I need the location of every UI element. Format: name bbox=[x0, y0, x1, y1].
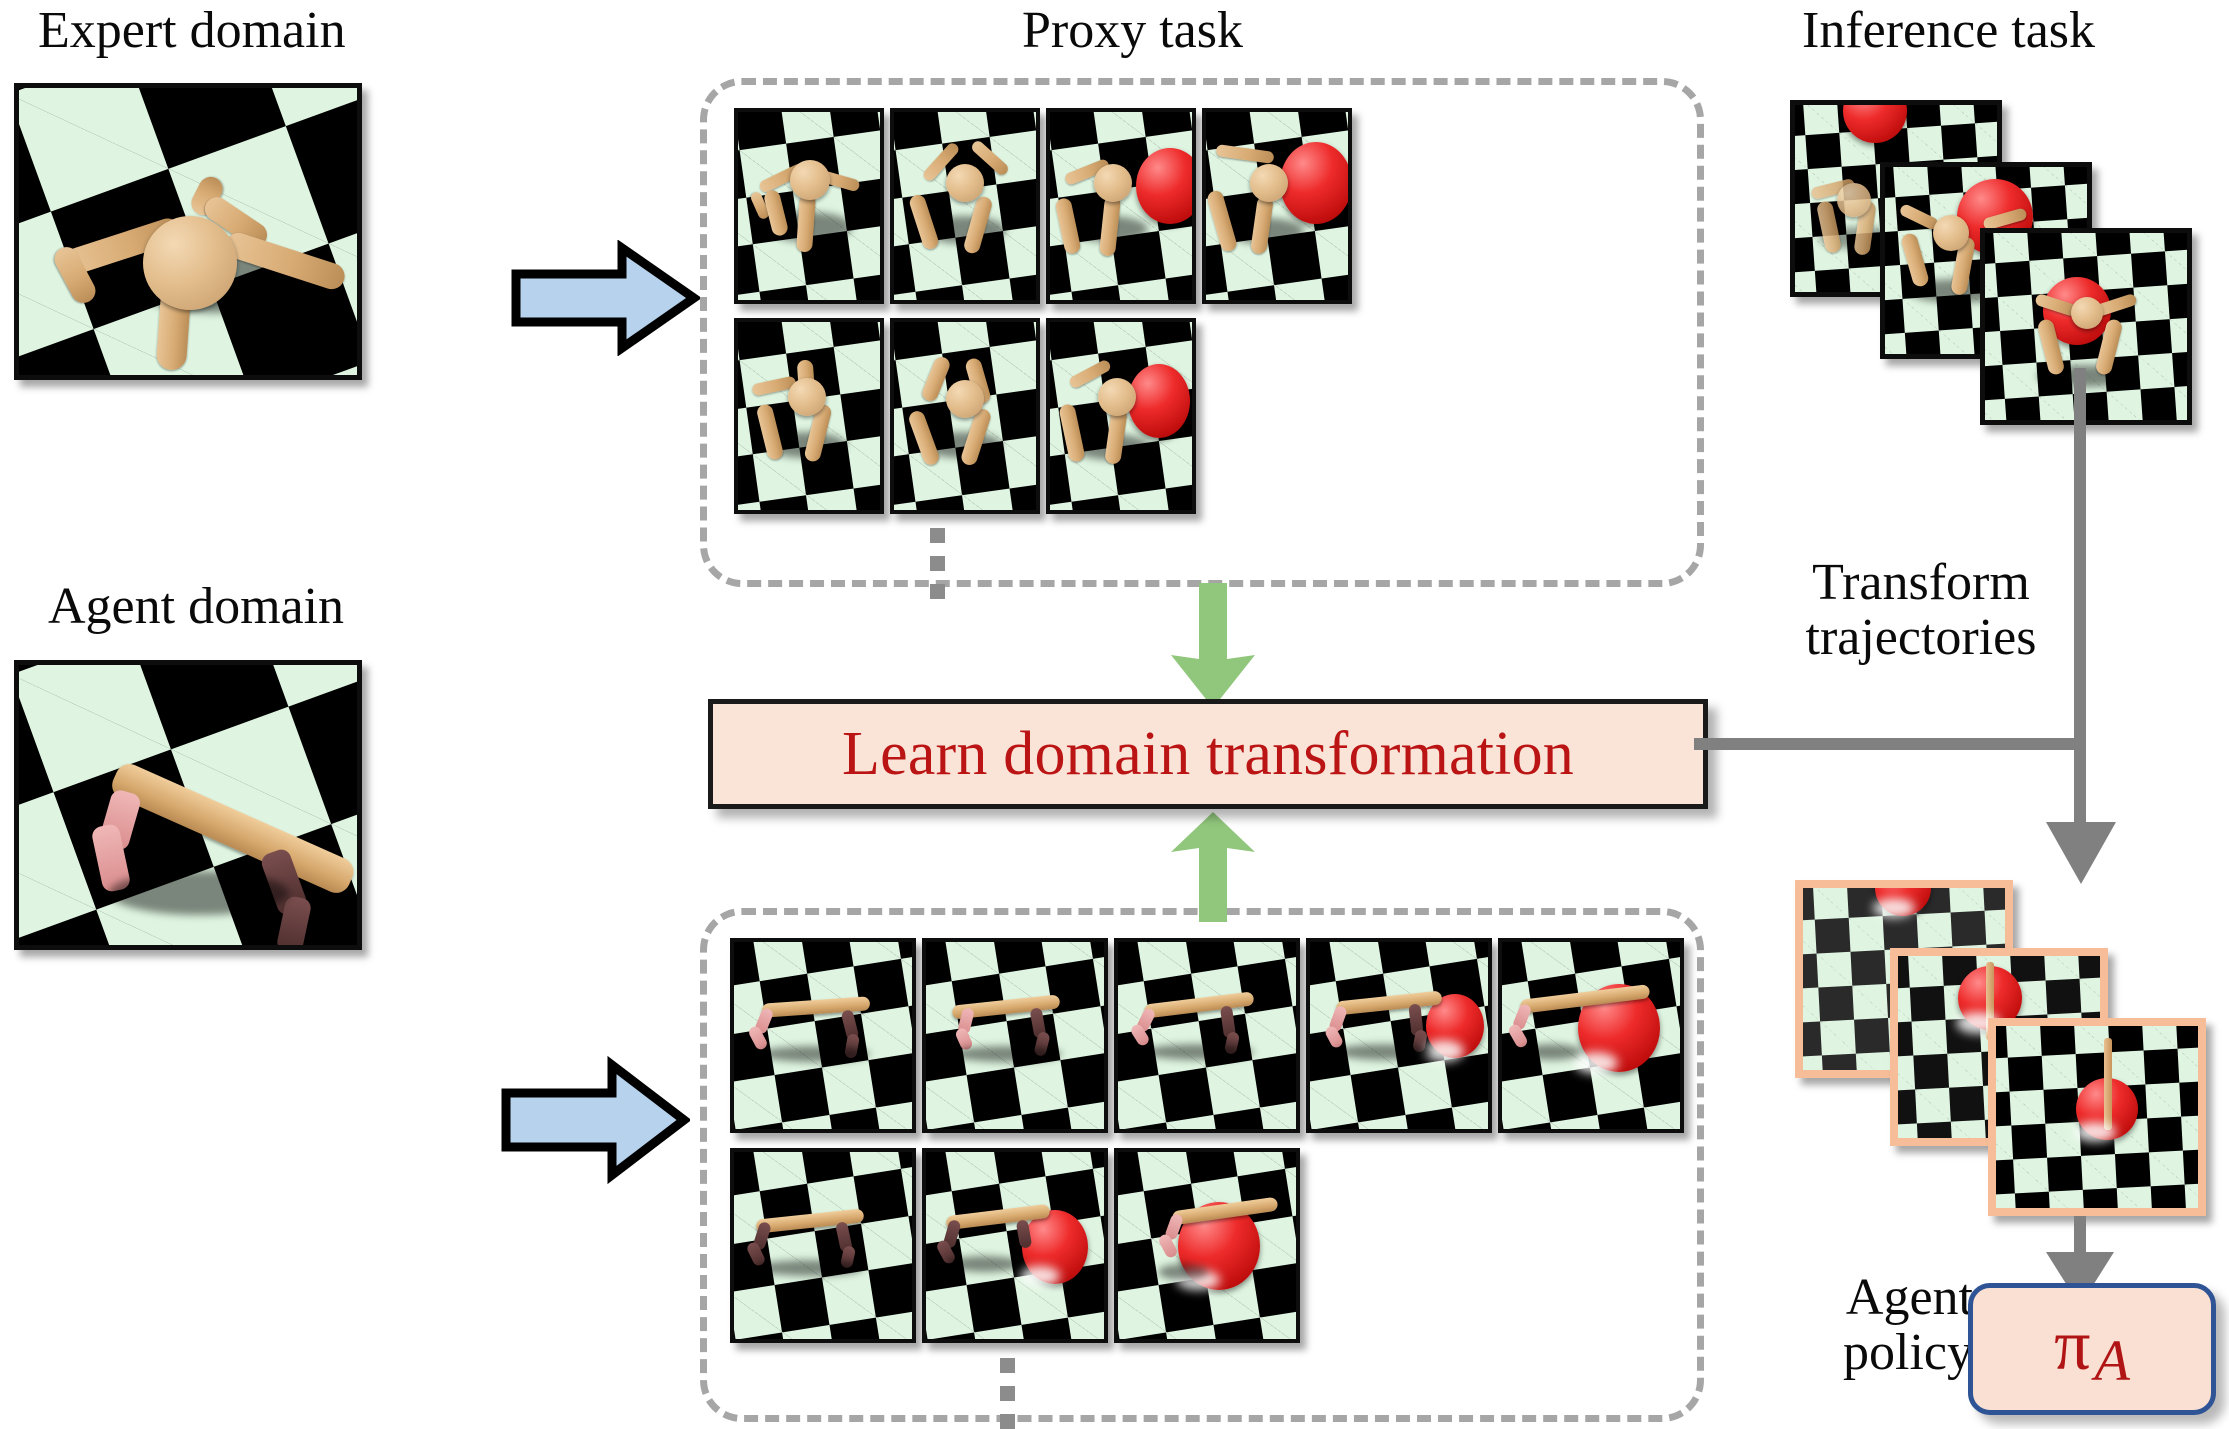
transformed-frame-3 bbox=[1988, 1018, 2206, 1216]
heading-agent-domain: Agent domain bbox=[48, 580, 344, 635]
agent-domain-scene bbox=[19, 665, 357, 945]
agent-policy-label: Agent policy bbox=[1745, 1270, 1973, 1380]
blue-arrow-agent-to-proxy bbox=[500, 1055, 690, 1185]
heading-expert-domain: Expert domain bbox=[38, 4, 346, 59]
proxy-agent-frame bbox=[730, 938, 916, 1133]
transform-trajectories-line1: Transform bbox=[1780, 555, 2062, 610]
heading-inference-task: Inference task bbox=[1802, 4, 2095, 59]
gray-vertical-line-inference bbox=[2074, 368, 2086, 772]
proxy-expert-frame bbox=[734, 108, 884, 304]
blue-arrow-expert-to-proxy bbox=[510, 240, 700, 356]
learn-domain-transformation-label: Learn domain transformation bbox=[842, 719, 1574, 790]
proxy-agent-frame bbox=[922, 1148, 1108, 1343]
proxy-expert-frame bbox=[734, 318, 884, 514]
proxy-agent-ellipsis bbox=[1000, 1358, 1015, 1429]
transform-trajectories-line2: trajectories bbox=[1780, 610, 2062, 665]
proxy-agent-frame bbox=[1498, 938, 1684, 1133]
agent-policy-box[interactable]: πA bbox=[1968, 1283, 2216, 1415]
gray-arrow-down-to-transformed-stack bbox=[2040, 818, 2122, 888]
transform-trajectories-label: Transform trajectories bbox=[1780, 555, 2062, 665]
proxy-agent-frame bbox=[1114, 1148, 1300, 1343]
agent-policy-line2: policy bbox=[1745, 1325, 1973, 1380]
inference-frame-3 bbox=[1980, 228, 2192, 425]
agent-policy-line1: Agent bbox=[1745, 1270, 1973, 1325]
proxy-agent-frame bbox=[1114, 938, 1300, 1133]
expert-domain-frame bbox=[14, 83, 362, 380]
proxy-expert-frame bbox=[1202, 108, 1352, 304]
proxy-agent-frame bbox=[1306, 938, 1492, 1133]
proxy-agent-frame bbox=[730, 1148, 916, 1343]
green-arrow-up-to-learn-box bbox=[1165, 812, 1261, 922]
pi-symbol: π bbox=[2054, 1305, 2090, 1385]
ant-robot bbox=[19, 88, 357, 375]
proxy-agent-frame bbox=[922, 938, 1108, 1133]
proxy-expert-frame bbox=[1046, 108, 1196, 304]
proxy-expert-frame bbox=[890, 318, 1040, 514]
green-arrow-down-to-learn-box bbox=[1165, 583, 1261, 708]
half-cheetah-robot bbox=[19, 665, 357, 945]
agent-domain-frame bbox=[14, 660, 362, 950]
pi-subscript: A bbox=[2094, 1328, 2129, 1393]
proxy-expert-frame bbox=[890, 108, 1040, 304]
heading-proxy-task: Proxy task bbox=[1022, 4, 1243, 59]
expert-domain-scene bbox=[19, 88, 357, 375]
gray-horizontal-line-from-learn-box bbox=[1694, 738, 2086, 750]
proxy-expert-frame bbox=[1046, 318, 1196, 514]
learn-domain-transformation-box[interactable]: Learn domain transformation bbox=[708, 699, 1708, 809]
proxy-expert-ellipsis bbox=[930, 528, 945, 599]
